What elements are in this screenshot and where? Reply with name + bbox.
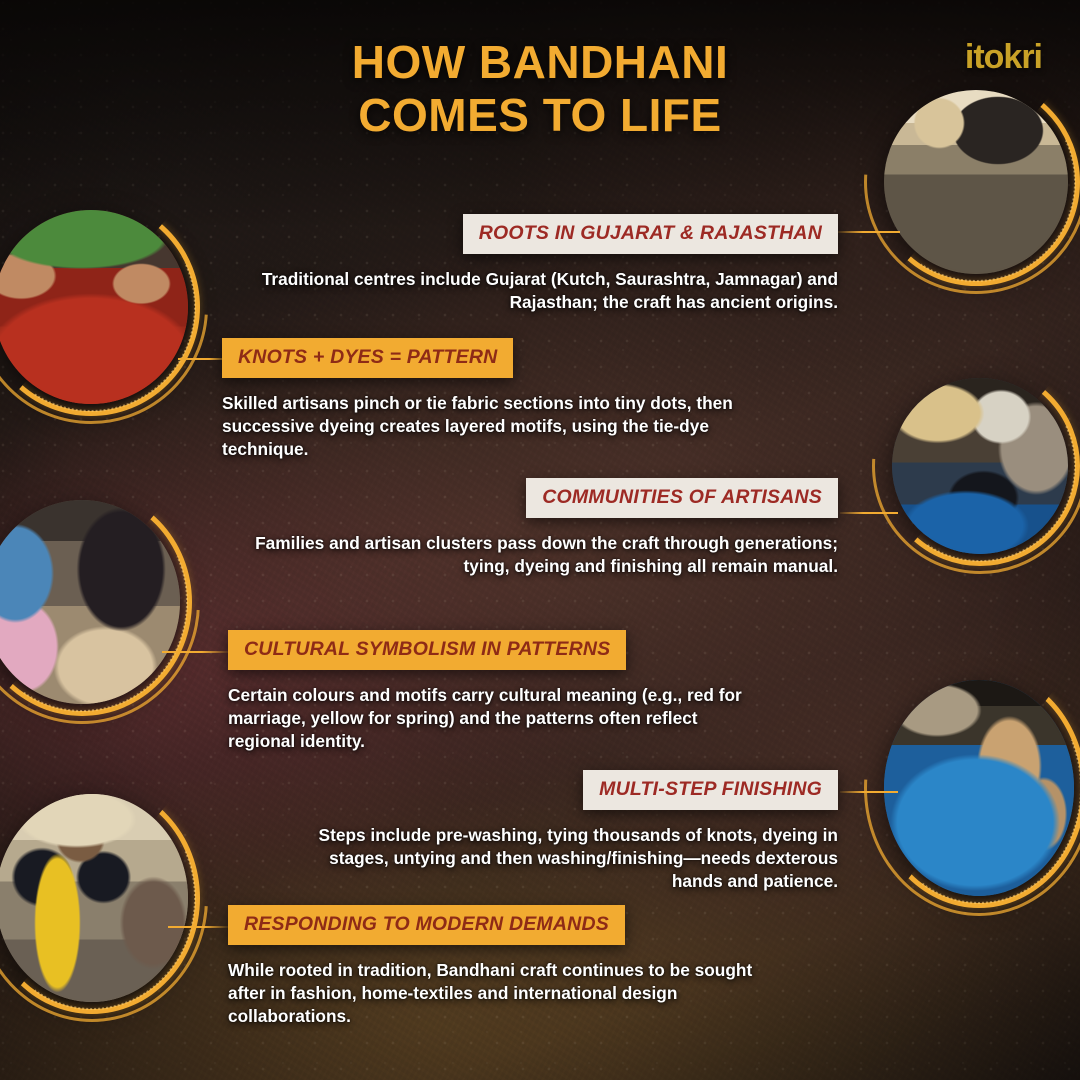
photo-indigo-dye-vat (872, 668, 1080, 908)
connector-line-modern (168, 926, 228, 928)
section-body-communities: Families and artisan clusters pass down … (218, 532, 838, 578)
section-modern-demands: RESPONDING TO MODERN DEMANDS While roote… (228, 905, 808, 1028)
section-body-multi-step-finishing: Steps include pre-washing, tying thousan… (308, 824, 838, 893)
connector-line-communities (840, 512, 898, 514)
section-body-cultural-symbolism: Certain colours and motifs carry cultura… (228, 684, 768, 753)
section-heading-communities[interactable]: COMMUNITIES OF ARTISANS (526, 478, 838, 518)
section-body-modern-demands: While rooted in tradition, Bandhani craf… (228, 959, 784, 1028)
photo-women-group-tying (0, 488, 192, 716)
connector-line-finishing (840, 791, 898, 793)
section-communities: COMMUNITIES OF ARTISANS Families and art… (218, 478, 838, 578)
connector-line-roots (838, 231, 900, 233)
photo-hands-red-fabric (0, 198, 200, 416)
section-multi-step-finishing: MULTI-STEP FINISHING Steps include pre-w… (278, 770, 838, 893)
section-heading-roots[interactable]: ROOTS IN GUJARAT & RAJASTHAN (463, 214, 838, 254)
section-heading-cultural-symbolism[interactable]: CULTURAL SYMBOLISM IN PATTERNS (228, 630, 626, 670)
section-heading-knots-dyes[interactable]: KNOTS + DYES = PATTERN (222, 338, 513, 378)
connector-line-cultural (162, 651, 228, 653)
section-roots: ROOTS IN GUJARAT & RAJASTHAN Traditional… (238, 214, 838, 314)
section-heading-modern-demands[interactable]: RESPONDING TO MODERN DEMANDS (228, 905, 625, 945)
section-body-knots-dyes: Skilled artisans pinch or tie fabric sec… (222, 392, 762, 461)
photo-dyer-yellow-cloth (0, 782, 200, 1014)
section-cultural-symbolism: CULTURAL SYMBOLISM IN PATTERNS Certain c… (228, 630, 808, 753)
section-heading-multi-step-finishing[interactable]: MULTI-STEP FINISHING (583, 770, 838, 810)
infographic-canvas: HOW BANDHANI COMES TO LIFE itokri (0, 0, 1080, 1080)
section-body-roots: Traditional centres include Gujarat (Kut… (238, 268, 838, 314)
photo-women-tying-yellow (872, 78, 1080, 286)
brand-logo: itokri (965, 38, 1042, 77)
photo-dyer-blue-vat (880, 366, 1080, 566)
section-knots-dyes: KNOTS + DYES = PATTERN Skilled artisans … (222, 338, 782, 461)
